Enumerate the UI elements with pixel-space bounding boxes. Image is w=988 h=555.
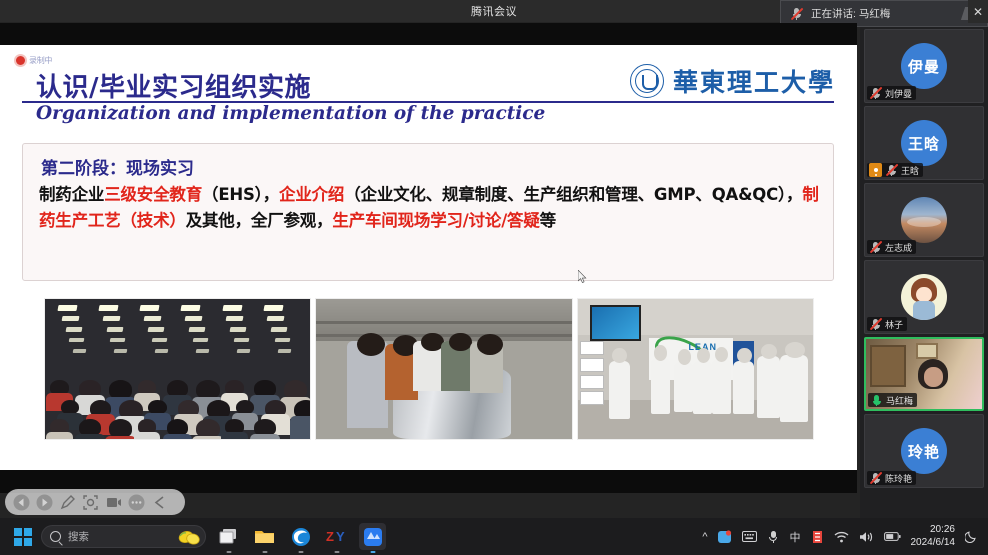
body-text-plain: （EHS）， xyxy=(202,185,279,204)
body-text-plain: 制药企业 xyxy=(39,185,104,204)
participant-tile[interactable]: 马红梅 xyxy=(864,337,984,411)
mic-muted-icon xyxy=(869,241,882,254)
taskbar-clock[interactable]: 20:26 2024/6/14 xyxy=(911,524,956,548)
tencent-meeting-app-icon[interactable] xyxy=(359,523,386,550)
record-dot-icon xyxy=(16,56,25,65)
body-text-plain: 等 xyxy=(540,211,556,230)
slide-content-card: 第二阶段：现场实习 制药企业三级安全教育（EHS），企业介绍（企业文化、规章制度… xyxy=(22,143,834,281)
notifications-moon-icon[interactable] xyxy=(965,530,978,543)
participant-tile[interactable]: 左志成 xyxy=(864,183,984,257)
recording-label: 录制中 xyxy=(29,55,52,66)
participant-name: 王晗 xyxy=(901,164,919,177)
sogou-input-icon[interactable] xyxy=(811,530,824,544)
host-badge-icon xyxy=(869,163,882,177)
participant-name-chip: 王晗 xyxy=(867,163,923,177)
participant-name: 陈玲艳 xyxy=(885,472,912,485)
participant-name-chip: 林子 xyxy=(867,317,907,331)
avatar xyxy=(901,197,947,243)
mic-live-icon xyxy=(870,394,883,407)
participant-name: 左志成 xyxy=(885,241,912,254)
recording-indicator: 录制中 xyxy=(16,55,52,66)
file-explorer-icon[interactable] xyxy=(251,523,278,550)
cloud-sync-icon[interactable] xyxy=(718,530,732,544)
slide-photo-row: LEAN xyxy=(44,298,814,440)
phase-heading: 第二阶段：现场实习 xyxy=(41,154,194,179)
participant-tile[interactable]: 王晗王晗 xyxy=(864,106,984,180)
avatar: 玲艳 xyxy=(901,428,947,474)
clock-time: 20:26 xyxy=(911,524,956,536)
microphone-icon[interactable] xyxy=(767,530,780,543)
plant-tour-reactor-photo xyxy=(315,298,573,440)
participant-rail[interactable]: 伊曼刘伊曼王晗王晗左志成林子马红梅玲艳陈玲艳 xyxy=(860,27,988,518)
pointer-icon[interactable] xyxy=(151,494,168,511)
ime-language-icon[interactable]: 中 xyxy=(790,529,801,545)
search-input[interactable]: 搜索 xyxy=(41,525,206,548)
avatar: 伊曼 xyxy=(901,43,947,89)
ppt-presenter-toolbar[interactable] xyxy=(5,489,185,515)
shared-screen-area: 录制中 认识/毕业实习组织实施 Organization and impleme… xyxy=(0,23,857,493)
mic-muted-icon xyxy=(885,164,898,177)
body-text-highlight: 生产车间现场学习/讨论/答疑 xyxy=(332,211,539,230)
university-logo: 華東理工大學 xyxy=(630,63,835,99)
body-text-plain: 及其他，全厂参观， xyxy=(186,211,333,230)
windows-taskbar: 搜索 ZY xyxy=(0,518,988,555)
participant-name-chip: 左志成 xyxy=(867,240,916,254)
university-name: 華東理工大學 xyxy=(673,63,835,99)
body-text-highlight: 企业介绍 xyxy=(279,185,344,204)
avatar xyxy=(901,274,947,320)
lemon-icon xyxy=(177,529,201,545)
system-tray: ^ 中 20:26 xyxy=(702,524,988,548)
participant-name: 马红梅 xyxy=(886,394,913,407)
participant-name-chip: 马红梅 xyxy=(868,393,917,407)
mic-muted-icon xyxy=(869,87,882,100)
presentation-slide: 录制中 认识/毕业实习组织实施 Organization and impleme… xyxy=(0,45,857,470)
participant-name-chip: 刘伊曼 xyxy=(867,86,916,100)
mic-muted-icon xyxy=(869,472,882,485)
lecture-hall-photo xyxy=(44,298,311,440)
more-options-icon[interactable] xyxy=(128,494,145,511)
volume-icon[interactable] xyxy=(859,531,874,543)
previous-slide-icon[interactable] xyxy=(13,494,30,511)
zy-app-icon[interactable]: ZY xyxy=(323,523,350,550)
body-text-plain: （企业文化、规章制度、生产组织和管理、GMP、QA&QC）， xyxy=(344,185,802,204)
participant-name: 林子 xyxy=(885,318,903,331)
mic-muted-icon xyxy=(869,318,882,331)
screen: 腾讯会议 正在讲话: 马红梅 ✕ 录制中 认识/毕业实习组织实施 Organiz… xyxy=(0,0,988,555)
avatar: 王晗 xyxy=(901,120,947,166)
participant-tile[interactable]: 林子 xyxy=(864,260,984,334)
participant-tile[interactable]: 伊曼刘伊曼 xyxy=(864,29,984,103)
close-icon[interactable]: ✕ xyxy=(968,0,988,23)
zoom-slide-icon[interactable] xyxy=(82,494,99,511)
start-button[interactable] xyxy=(14,528,32,546)
search-placeholder: 搜索 xyxy=(68,529,89,544)
battery-icon[interactable] xyxy=(884,531,901,542)
participant-tile[interactable]: 玲艳陈玲艳 xyxy=(864,414,984,488)
slide-body-text: 制药企业三级安全教育（EHS），企业介绍（企业文化、规章制度、生产组织和管理、G… xyxy=(39,182,823,233)
task-view-icon[interactable] xyxy=(215,523,242,550)
svg-text:Y: Y xyxy=(336,529,345,544)
next-slide-icon[interactable] xyxy=(36,494,53,511)
tray-chevron-icon[interactable]: ^ xyxy=(702,531,707,543)
mic-muted-icon xyxy=(790,7,803,20)
clock-date: 2024/6/14 xyxy=(911,537,956,549)
participant-name-chip: 陈玲艳 xyxy=(867,471,916,485)
keyboard-icon[interactable] xyxy=(742,531,757,542)
participant-name: 刘伊曼 xyxy=(885,87,912,100)
cleanroom-tour-photo: LEAN xyxy=(577,298,814,440)
tencent-meeting-window: 腾讯会议 正在讲话: 马红梅 ✕ 录制中 认识/毕业实习组织实施 Organiz… xyxy=(0,0,988,518)
slide-title: 认识/毕业实习组织实施 xyxy=(36,67,311,104)
wifi-icon[interactable] xyxy=(834,531,849,543)
microsoft-edge-icon[interactable] xyxy=(287,523,314,550)
body-text-highlight: 三级安全教育 xyxy=(104,185,202,204)
pen-tool-icon[interactable] xyxy=(59,494,76,511)
speaking-label: 正在讲话: 马红梅 xyxy=(811,6,890,21)
svg-text:Z: Z xyxy=(326,529,334,544)
slide-subtitle: Organization and implementation of the p… xyxy=(36,103,545,124)
slide-view-icon[interactable] xyxy=(105,494,122,511)
search-icon xyxy=(50,531,61,542)
university-seal-icon xyxy=(630,64,664,98)
